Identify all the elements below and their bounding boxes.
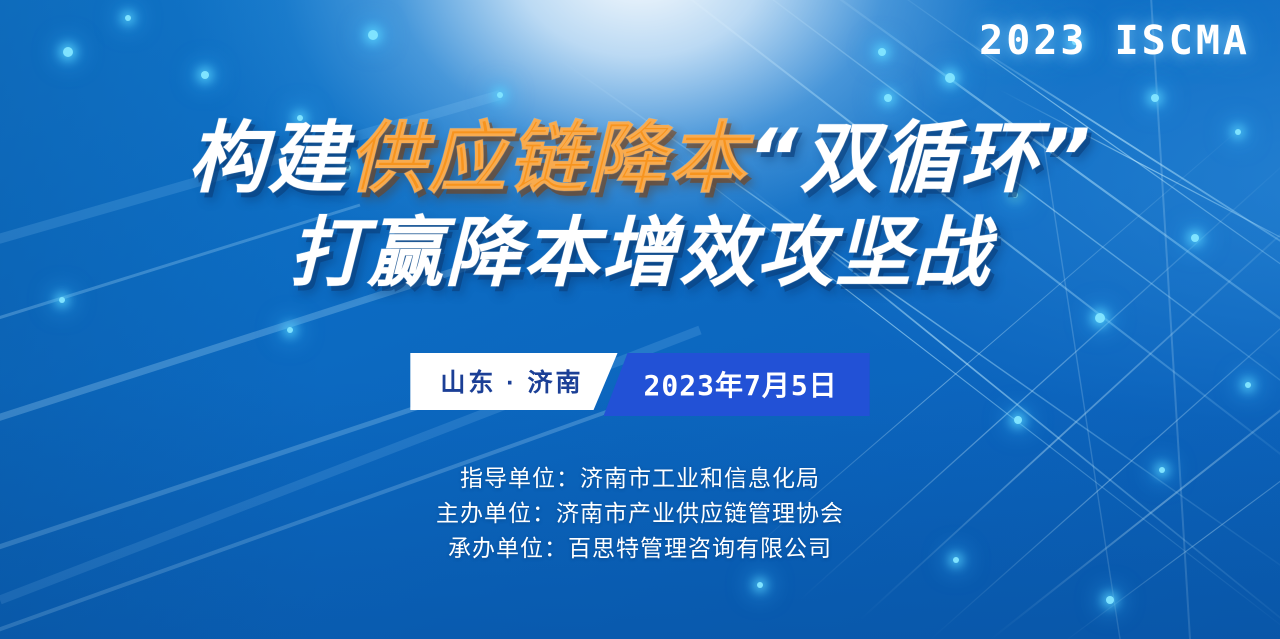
date-badge: 2023年7月5日 — [604, 353, 870, 416]
location-badge: 山东 · 济南 — [410, 353, 617, 410]
organizers-block: 指导单位：济南市工业和信息化局 主办单位：济南市产业供应链管理协会 承办单位：百… — [0, 461, 1280, 566]
host-unit-line: 主办单位：济南市产业供应链管理协会 — [0, 496, 1280, 531]
glow-dot — [497, 92, 503, 98]
glow-dot — [1014, 416, 1022, 424]
headline-line-1: 构建供应链降本“双循环” — [0, 112, 1280, 207]
glow-dot — [201, 71, 209, 79]
conference-banner: 2023 ISCMA 构建供应链降本“双循环” 打赢降本增效攻坚战 山东 · 济… — [0, 0, 1280, 639]
event-badge-row: 山东 · 济南 2023年7月5日 — [0, 353, 1280, 416]
glow-dot — [1151, 94, 1159, 102]
glow-dot — [1106, 596, 1114, 604]
glow-dot — [125, 15, 131, 21]
organizer-unit-line: 承办单位：百思特管理咨询有限公司 — [0, 531, 1280, 566]
headline-seg-3: “双循环” — [748, 114, 1092, 204]
glow-dot — [368, 30, 378, 40]
glow-dot — [287, 327, 293, 333]
headline-seg-2: 供应链降本 — [348, 114, 748, 204]
headline-line-2: 打赢降本增效攻坚战 — [0, 207, 1280, 300]
headline-seg-1: 构建 — [188, 114, 348, 204]
glow-dot — [757, 582, 763, 588]
headline-block: 构建供应链降本“双循环” 打赢降本增效攻坚战 — [0, 112, 1280, 300]
glow-dot — [945, 73, 955, 83]
iscma-logo: 2023 ISCMA — [979, 18, 1250, 64]
glow-dot — [1095, 313, 1105, 323]
guiding-unit-line: 指导单位：济南市工业和信息化局 — [0, 461, 1280, 496]
glow-dot — [63, 47, 73, 57]
glow-dot — [878, 48, 886, 56]
glow-dot — [884, 94, 892, 102]
